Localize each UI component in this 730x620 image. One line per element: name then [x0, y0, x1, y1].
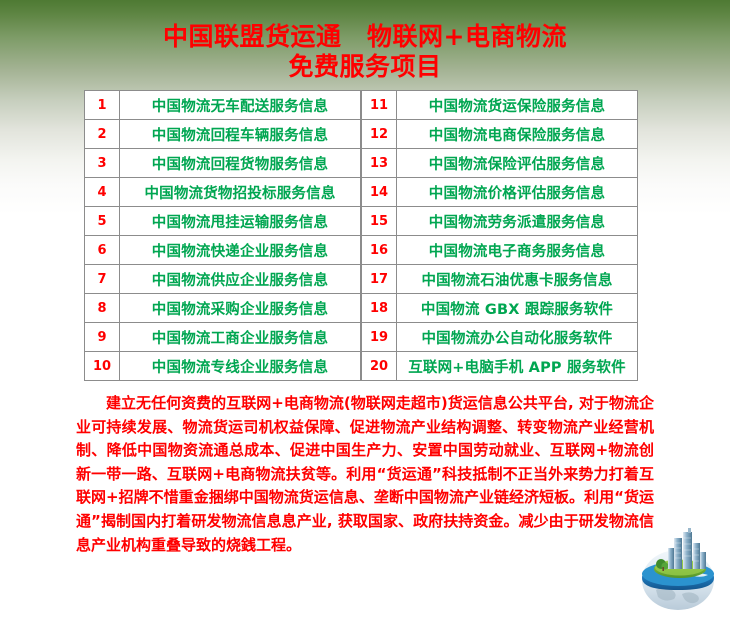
- row-number-right: 11: [361, 91, 397, 120]
- service-item-left[interactable]: 中国物流回程货物服务信息: [120, 149, 362, 178]
- row-number-left: 8: [85, 294, 120, 323]
- row-number-right: 18: [361, 294, 397, 323]
- row-number-left: 7: [85, 265, 120, 294]
- row-number-left: 9: [85, 323, 120, 352]
- table-row: 3 中国物流回程货物服务信息 13 中国物流保险评估服务信息: [85, 149, 638, 178]
- service-item-right[interactable]: 中国物流价格评估服务信息: [397, 178, 638, 207]
- table-row: 2 中国物流回程车辆服务信息 12 中国物流电商保险服务信息: [85, 120, 638, 149]
- service-item-left[interactable]: 中国物流供应企业服务信息: [120, 265, 362, 294]
- slide-canvas: 中国联盟货运通 物联网+电商物流 免费服务项目 1 中国物流无车配送服务信息 1…: [0, 0, 730, 620]
- service-item-right[interactable]: 中国物流劳务派遣服务信息: [397, 207, 638, 236]
- row-number-right: 12: [361, 120, 397, 149]
- row-number-right: 20: [361, 352, 397, 381]
- service-item-right[interactable]: 中国物流电商保险服务信息: [397, 120, 638, 149]
- service-item-right[interactable]: 中国物流货运保险服务信息: [397, 91, 638, 120]
- service-item-right[interactable]: 中国物流办公自动化服务软件: [397, 323, 638, 352]
- service-table-body: 1 中国物流无车配送服务信息 11 中国物流货运保险服务信息 2 中国物流回程车…: [85, 91, 638, 381]
- table-row: 10 中国物流专线企业服务信息 20 互联网+电脑手机 APP 服务软件: [85, 352, 638, 381]
- row-number-left: 3: [85, 149, 120, 178]
- service-item-right[interactable]: 中国物流 GBX 跟踪服务软件: [397, 294, 638, 323]
- page-title: 中国联盟货运通 物联网+电商物流 免费服务项目: [0, 22, 730, 81]
- row-number-right: 19: [361, 323, 397, 352]
- service-item-left[interactable]: 中国物流快递企业服务信息: [120, 236, 362, 265]
- row-number-right: 13: [361, 149, 397, 178]
- row-number-left: 4: [85, 178, 120, 207]
- title-line-1: 中国联盟货运通 物联网+电商物流: [0, 22, 730, 52]
- row-number-left: 2: [85, 120, 120, 149]
- service-item-left[interactable]: 中国物流甩挂运输服务信息: [120, 207, 362, 236]
- service-item-left[interactable]: 中国物流工商企业服务信息: [120, 323, 362, 352]
- row-number-right: 15: [361, 207, 397, 236]
- service-item-left[interactable]: 中国物流无车配送服务信息: [120, 91, 362, 120]
- row-number-left: 1: [85, 91, 120, 120]
- table-row: 4 中国物流货物招投标服务信息 14 中国物流价格评估服务信息: [85, 178, 638, 207]
- table-row: 9 中国物流工商企业服务信息 19 中国物流办公自动化服务软件: [85, 323, 638, 352]
- table-row: 7 中国物流供应企业服务信息 17 中国物流石油优惠卡服务信息: [85, 265, 638, 294]
- table-row: 8 中国物流采购企业服务信息 18 中国物流 GBX 跟踪服务软件: [85, 294, 638, 323]
- row-number-right: 16: [361, 236, 397, 265]
- service-items-table: 1 中国物流无车配送服务信息 11 中国物流货运保险服务信息 2 中国物流回程车…: [84, 90, 638, 381]
- row-number-left: 10: [85, 352, 120, 381]
- service-item-right[interactable]: 中国物流石油优惠卡服务信息: [397, 265, 638, 294]
- service-item-right[interactable]: 互联网+电脑手机 APP 服务软件: [397, 352, 638, 381]
- row-number-left: 6: [85, 236, 120, 265]
- row-number-right: 17: [361, 265, 397, 294]
- body-paragraph: 建立无任何资费的互联网+电商物流(物联网走超市)货运信息公共平台, 对于物流企业…: [76, 392, 654, 557]
- title-line-2: 免费服务项目: [0, 52, 730, 82]
- service-item-left[interactable]: 中国物流采购企业服务信息: [120, 294, 362, 323]
- table-row: 6 中国物流快递企业服务信息 16 中国物流电子商务服务信息: [85, 236, 638, 265]
- service-item-left[interactable]: 中国物流回程车辆服务信息: [120, 120, 362, 149]
- service-item-right[interactable]: 中国物流保险评估服务信息: [397, 149, 638, 178]
- table-row: 1 中国物流无车配送服务信息 11 中国物流货运保险服务信息: [85, 91, 638, 120]
- globe-city-illustration: [630, 524, 726, 616]
- service-item-right[interactable]: 中国物流电子商务服务信息: [397, 236, 638, 265]
- row-number-left: 5: [85, 207, 120, 236]
- service-item-left[interactable]: 中国物流货物招投标服务信息: [120, 178, 362, 207]
- service-item-left[interactable]: 中国物流专线企业服务信息: [120, 352, 362, 381]
- row-number-right: 14: [361, 178, 397, 207]
- table-row: 5 中国物流甩挂运输服务信息 15 中国物流劳务派遣服务信息: [85, 207, 638, 236]
